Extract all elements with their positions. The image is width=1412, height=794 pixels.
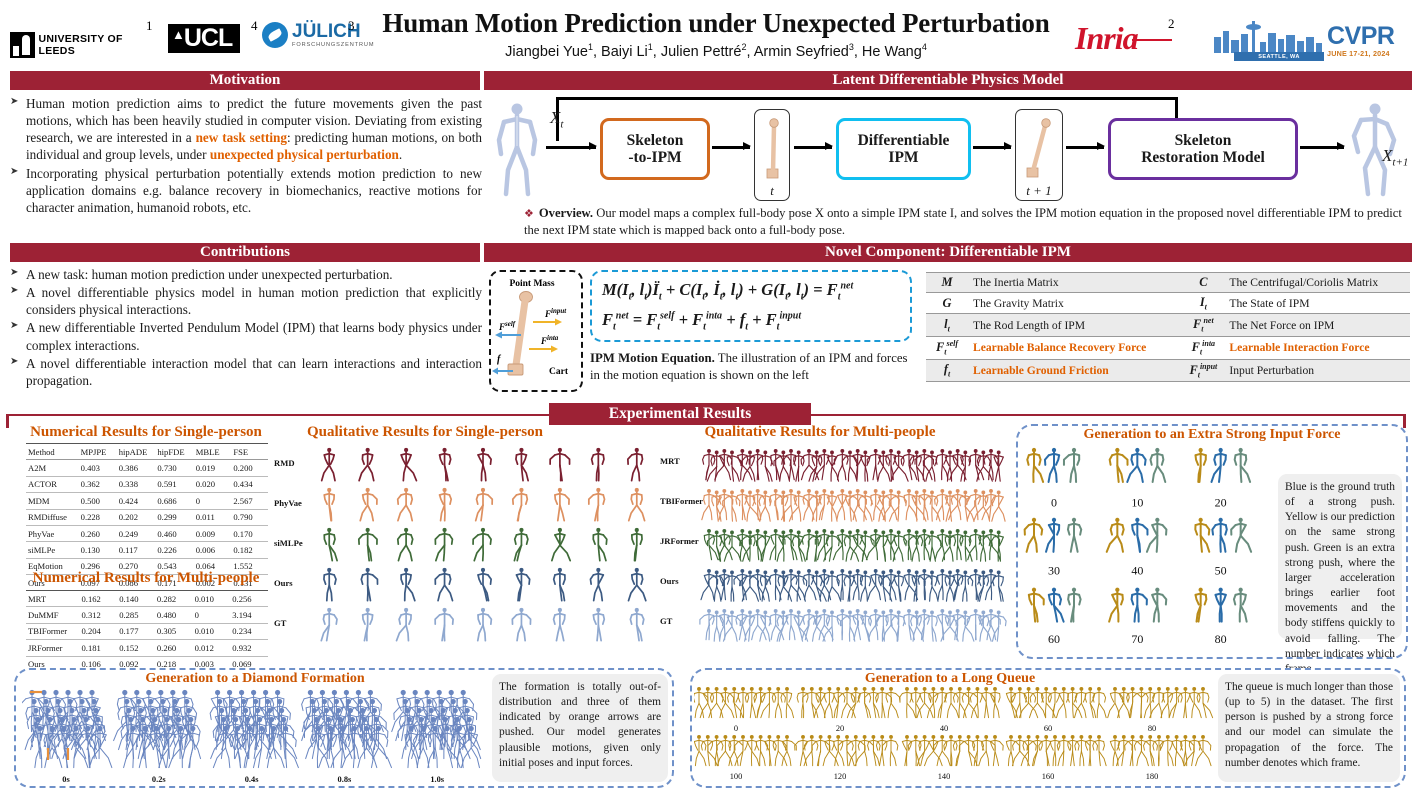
cell-hipade: 0.285 [117, 607, 155, 623]
cell-mble: 0.010 [193, 623, 231, 639]
cell-mpjpe: 0.312 [80, 607, 118, 623]
queue-note: The queue is much longer than those (up … [1218, 674, 1400, 782]
svg-text:F: F [498, 322, 505, 332]
julich-logo: JÜLICH FORSCHUNGSZENTRUM [262, 22, 374, 49]
table-row: siMLPe0.1300.1170.2260.0060.182 [26, 542, 268, 558]
ipm-pendulum-t-icon [755, 112, 789, 184]
table-row: PhyVae0.2600.2490.4600.0090.170 [26, 525, 268, 541]
cell-hipfde: 0.260 [155, 640, 193, 656]
cell-hipfde: 0.282 [155, 591, 193, 607]
column-header: MBLE [194, 444, 232, 460]
cell-method: MRT [26, 591, 80, 607]
cell-method: RMDiffuse [26, 509, 79, 525]
input-skeleton-icon [488, 100, 546, 200]
svg-text:input: input [551, 307, 567, 315]
skeleton-figures: RMDPhyVaesiMLPeOursGT [272, 446, 662, 646]
leeds-affiliation-number: 1 [146, 18, 153, 34]
contributions-body: A new task: human motion prediction unde… [10, 266, 482, 390]
row-label: GT [274, 618, 287, 628]
input-label: Xt [550, 108, 563, 130]
contributions-item: A novel differentiable physics model in … [10, 284, 482, 318]
symbol-description: Learnable Ground Friction [968, 359, 1182, 382]
column-header: hipFDE [155, 444, 193, 460]
svg-text:self: self [504, 320, 516, 328]
julich-logo-label: JÜLICH [292, 22, 374, 41]
arrow-box3-to-output [1300, 146, 1344, 149]
frame-number: 120 [834, 772, 847, 781]
row-label: TBIFormer [660, 496, 703, 506]
contributions-item: A novel differentiable interaction model… [10, 355, 482, 389]
cell-hipade: 0.249 [117, 525, 156, 541]
frame-number: 100 [730, 772, 743, 781]
inria-affiliation-number: 2 [1168, 16, 1175, 32]
row-label: JRFormer [660, 536, 699, 546]
ipm-t-label: t [755, 183, 789, 199]
time-label: 0.8s [338, 775, 352, 784]
cell-mpjpe: 0.260 [79, 525, 117, 541]
column-header: hipADE [117, 444, 156, 460]
ucl-affiliation-number: 4 [251, 18, 258, 34]
experimental-results-header: Experimental Results [549, 403, 811, 425]
symbol-description: The Gravity Matrix [968, 293, 1182, 314]
svg-text:inta: inta [547, 334, 559, 342]
cell-mble: 0.006 [194, 542, 232, 558]
time-label: 1.0s [430, 775, 444, 784]
ipm-t1-label: t + 1 [1016, 183, 1062, 199]
physics-model-overview: Overview. Our model maps a complex full-… [524, 205, 1404, 239]
symbol-description: Input Perturbation [1224, 359, 1410, 382]
table-row: M The Inertia Matrix C The Centrifugal/C… [926, 273, 1410, 293]
cell-hipade: 0.152 [117, 640, 155, 656]
box3-line2: Restoration Model [1141, 149, 1265, 166]
single-qual-heading: Qualitative Results for Single-person [278, 424, 572, 441]
table-row: RMDiffuse0.2280.2020.2990.0110.790 [26, 509, 268, 525]
cvpr-skyline-icon: SEATTLE, WA [1212, 21, 1324, 61]
frame-number: 80 [1148, 724, 1156, 733]
cell-fse: 0.170 [231, 525, 268, 541]
box2-line1: Differentiable [858, 132, 950, 149]
ipm-illustration: Point Mass F input F self F inta f Cart [489, 270, 583, 392]
cvpr-logo: SEATTLE, WA CVPR JUNE 17-21, 2024 [1212, 20, 1404, 62]
julich-affiliation-number: 3 [348, 18, 355, 34]
table-row: Ftself Learnable Balance Recovery Force … [926, 337, 1410, 360]
julich-swirl-icon [262, 22, 288, 48]
ipm-pendulum-t1-icon [1016, 112, 1062, 184]
novel-component-section-header: Novel Component: Differentiable IPM [484, 243, 1412, 262]
cell-method: PhyVae [26, 525, 79, 541]
inria-logo-label: Inria [1075, 20, 1138, 56]
frame-number: 140 [938, 772, 951, 781]
cell-method: MDM [26, 493, 79, 509]
cell-fse: 3.194 [230, 607, 268, 623]
inria-logo: Inria [1075, 20, 1172, 57]
cell-hipade: 0.117 [117, 542, 156, 558]
time-label: 0s [62, 775, 70, 784]
strong-force-note: Blue is the ground truth of a strong pus… [1278, 474, 1402, 639]
overview-bold-label: Overview. [539, 206, 593, 220]
motivation-b1-part3: . [399, 147, 402, 162]
julich-logo-sublabel: FORSCHUNGSZENTRUM [292, 43, 374, 49]
motivation-bullet-2: Incorporating physical perturbation pote… [10, 165, 482, 216]
table-row: ft Learnable Ground Friction Ftinput Inp… [926, 359, 1410, 382]
column-header: FSE [231, 444, 268, 460]
cell-mble: 0.019 [194, 460, 232, 476]
ucl-triangle-icon: ▲ [172, 28, 184, 42]
table-row: G The Gravity Matrix It The State of IPM [926, 293, 1410, 314]
diamond-skeleton-grid: 0s0.2s0.4s0.8s1.0s [22, 688, 486, 784]
ucl-logo-label: ▲UCL [168, 24, 240, 53]
output-label: Xt+1 [1382, 146, 1408, 168]
row-label: Ours [274, 578, 293, 588]
cell-fse: 0.182 [231, 542, 268, 558]
symbol-cell: lt [926, 314, 968, 337]
frame-number: 70 [1131, 632, 1143, 646]
box2-line2: IPM [888, 149, 918, 166]
frame-number: 80 [1215, 632, 1227, 646]
contributions-section-header: Contributions [10, 243, 480, 262]
symbol-cell: ft [926, 359, 968, 382]
arrow-box1-to-ipm-t [712, 146, 750, 149]
frame-number: 0 [734, 724, 738, 733]
cvpr-city-label: SEATTLE, WA [1234, 52, 1324, 61]
time-label: 0.4s [245, 775, 259, 784]
multi-qual-heading: Qualitative Results for Multi-people [640, 424, 1000, 441]
box1-line1: Skeleton [627, 132, 684, 149]
symbol-description: The State of IPM [1224, 293, 1410, 314]
cell-mpjpe: 0.162 [80, 591, 118, 607]
table-row: DuMMF0.3120.2850.48003.194 [26, 607, 268, 623]
cell-mble: 0 [194, 493, 232, 509]
table-row: JRFormer0.1810.1520.2600.0120.932 [26, 640, 268, 656]
cell-method: TBIFormer [26, 623, 80, 639]
strong-force-skeleton-grid: 01020304050607080 [1022, 446, 1272, 651]
cell-hipfde: 0.299 [155, 509, 193, 525]
contributions-item: A new task: human motion prediction unde… [10, 266, 482, 283]
poster-header: UNIVERSITY OF LEEDS 1 ▲UCL 4 JÜLICH FORS… [0, 0, 1412, 68]
symbol-cell: Ftself [926, 337, 968, 360]
frame-number: 40 [1131, 564, 1143, 578]
box3-line1: Skeleton [1175, 132, 1232, 149]
cell-method: siMLPe [26, 542, 79, 558]
cell-mpjpe: 0.362 [79, 476, 117, 492]
skeleton-to-ipm-box: Skeleton-to-IPM [600, 118, 710, 180]
ipm-state-t-card: t [754, 109, 790, 201]
skeleton-figures: 020406080100120140160180 [694, 686, 1214, 784]
cell-fse: 0.200 [231, 460, 268, 476]
cell-mpjpe: 0.403 [79, 460, 117, 476]
space-needle-icon [1252, 21, 1255, 53]
cell-method: JRFormer [26, 640, 80, 656]
column-header: MPJPE [79, 444, 117, 460]
cvpr-logo-label: CVPR [1327, 24, 1394, 49]
motivation-b1-highlight1: new task setting [196, 130, 287, 145]
symbol-description: The Rod Length of IPM [968, 314, 1182, 337]
equation-caption-bold: IPM Motion Equation. [590, 351, 715, 365]
table-row: ACTOR0.3620.3380.5910.0200.434 [26, 476, 268, 492]
row-label: MRT [660, 456, 680, 466]
cell-method: ACTOR [26, 476, 79, 492]
svg-text:F: F [540, 336, 547, 346]
table-header-row: Method MPJPE hipADE hipFDE MBLE FSE [26, 444, 268, 460]
arrow-ipm-t1-to-box3 [1066, 146, 1104, 149]
symbol-cell: G [926, 293, 968, 314]
symbol-cell: M [926, 273, 968, 293]
row-label: siMLPe [274, 538, 303, 548]
skeleton-figures: 01020304050607080 [1022, 446, 1272, 651]
symbol-cell: Ftinta [1182, 337, 1224, 360]
skeleton-restoration-box: SkeletonRestoration Model [1108, 118, 1298, 180]
symbol-description: The Net Force on IPM [1224, 314, 1410, 337]
motivation-section-header: Motivation [10, 71, 480, 90]
frame-number: 0 [1051, 495, 1057, 509]
single-person-qualitative-grid: RMDPhyVaesiMLPeOursGT [272, 446, 662, 646]
row-label: Ours [660, 576, 679, 586]
title-block: Human Motion Prediction under Unexpected… [366, 9, 1066, 60]
symbol-cell: Ftinput [1182, 359, 1224, 382]
symbol-cell: Ftnet [1182, 314, 1224, 337]
table-row: lt The Rod Length of IPM Ftnet The Net F… [926, 314, 1410, 337]
frame-number: 40 [940, 724, 948, 733]
skeleton-figures: 0s0.2s0.4s0.8s1.0s [22, 688, 486, 784]
cell-fse: 0.256 [230, 591, 268, 607]
ipm-equation-line1: M(It, lt)Ït + C(It, İt, lt) + G(It, lt)… [602, 280, 910, 302]
physics-model-section-header: Latent Differentiable Physics Model [484, 71, 1412, 90]
multi-numeric-heading: Numerical Results for Multi-people [22, 570, 270, 587]
queue-skeleton-grid: 020406080100120140160180 [694, 686, 1214, 784]
rule-right-cap [1403, 414, 1406, 428]
diamond-heading: Generation to a Diamond Formation [20, 671, 490, 687]
cell-fse: 0.234 [230, 623, 268, 639]
table-row: A2M0.4030.3860.7300.0190.200 [26, 460, 268, 476]
cell-hipade: 0.177 [117, 623, 155, 639]
symbol-description: Learnable Balance Recovery Force [968, 337, 1182, 360]
ipm-equation-line2: Ftnet = Ftself + Ftinta + ft + Ftinput [602, 310, 910, 332]
row-label: PhyVae [274, 498, 302, 508]
motivation-bullet-1: Human motion prediction aims to predict … [10, 95, 482, 164]
cell-mble: 0.010 [193, 591, 231, 607]
arrow-ipm-t-to-box2 [794, 146, 832, 149]
cell-hipade: 0.202 [117, 509, 156, 525]
cell-mpjpe: 0.204 [80, 623, 118, 639]
cvpr-date-label: JUNE 17-21, 2024 [1327, 50, 1394, 57]
cell-hipfde: 0.226 [155, 542, 193, 558]
symbol-description: The Inertia Matrix [968, 273, 1182, 293]
rule-left-cap [6, 414, 9, 428]
page-title: Human Motion Prediction under Unexpected… [366, 9, 1066, 39]
symbol-cell: It [1182, 293, 1224, 314]
cell-mpjpe: 0.228 [79, 509, 117, 525]
strong-force-heading: Generation to an Extra Strong Input Forc… [1022, 427, 1402, 443]
arrow-box2-to-ipm-t1 [973, 146, 1011, 149]
cell-mpjpe: 0.130 [79, 542, 117, 558]
cell-hipfde: 0.730 [155, 460, 193, 476]
cell-mble: 0 [193, 607, 231, 623]
cell-mble: 0.011 [194, 509, 232, 525]
frame-number: 20 [1215, 495, 1227, 509]
inria-underline-icon [1132, 39, 1172, 42]
svg-text:Point Mass: Point Mass [509, 279, 554, 289]
cell-fse: 0.932 [230, 640, 268, 656]
ucl-logo: ▲UCL [168, 24, 240, 53]
cell-hipfde: 0.686 [155, 493, 193, 509]
symbol-definition-table: M The Inertia Matrix C The Centrifugal/C… [926, 272, 1410, 382]
queue-heading: Generation to a Long Queue [700, 671, 1200, 687]
time-label: 0.2s [152, 775, 166, 784]
differentiable-ipm-box: DifferentiableIPM [836, 118, 971, 180]
row-label: RMD [274, 458, 295, 468]
cell-hipfde: 0.305 [155, 623, 193, 639]
frame-number: 60 [1048, 632, 1060, 646]
cell-hipade: 0.140 [117, 591, 155, 607]
motivation-body: Human motion prediction aims to predict … [10, 95, 482, 217]
cell-fse: 0.790 [231, 509, 268, 525]
multi-people-results-table: MRT0.1620.1400.2820.0100.256 DuMMF0.3120… [26, 590, 268, 673]
symbol-description: Learnable Interaction Force [1224, 337, 1410, 360]
cell-fse: 0.434 [231, 476, 268, 492]
ipm-equation-box: M(It, lt)Ït + C(It, İt, lt) + G(It, lt)… [590, 270, 912, 342]
cell-fse: 2.567 [231, 493, 268, 509]
column-header: Method [26, 444, 79, 460]
symbol-cell: C [1182, 273, 1224, 293]
frame-number: 180 [1146, 772, 1159, 781]
frame-number: 30 [1048, 564, 1060, 578]
cell-mble: 0.009 [194, 525, 232, 541]
frame-number: 10 [1131, 495, 1143, 509]
ipm-force-diagram-icon: Point Mass F input F self F inta f Cart [491, 272, 583, 392]
cell-hipfde: 0.591 [155, 476, 193, 492]
multi-people-qualitative-grid: MRTTBIFormerJRFormerOursGT [660, 446, 1010, 646]
frame-number: 160 [1042, 772, 1055, 781]
frame-number: 50 [1215, 564, 1227, 578]
leeds-logo: UNIVERSITY OF LEEDS [10, 22, 160, 58]
cell-method: DuMMF [26, 607, 80, 623]
leeds-logo-label: UNIVERSITY OF LEEDS [38, 33, 160, 58]
symbol-description: The Centrifugal/Coriolis Matrix [1224, 273, 1410, 293]
cell-hipade: 0.424 [117, 493, 156, 509]
poster-root: UNIVERSITY OF LEEDS 1 ▲UCL 4 JÜLICH FORS… [0, 0, 1412, 794]
cell-mpjpe: 0.500 [79, 493, 117, 509]
cell-method: A2M [26, 460, 79, 476]
skeleton-figures: MRTTBIFormerJRFormerOursGT [660, 446, 1010, 646]
svg-text:Cart: Cart [549, 367, 569, 377]
row-label: GT [660, 616, 673, 626]
author-list: Jiangbei Yue1, Baiyi Li1, Julien Pettré2… [366, 42, 1066, 60]
box1-line2: -to-IPM [628, 149, 681, 166]
leeds-shield-icon [10, 32, 35, 58]
table-row: TBIFormer0.2040.1770.3050.0100.234 [26, 623, 268, 639]
frame-number: 20 [836, 724, 844, 733]
cell-hipade: 0.386 [117, 460, 156, 476]
physics-model-diagram: Xt Skeleton-to-IPM t DifferentiableIPM [484, 92, 1412, 210]
cell-mble: 0.012 [193, 640, 231, 656]
cell-hipade: 0.338 [117, 476, 156, 492]
overview-text: Our model maps a complex full-body pose … [524, 206, 1402, 237]
single-numeric-heading: Numerical Results for Single-person [22, 424, 270, 441]
table-row: MRT0.1620.1400.2820.0100.256 [26, 591, 268, 607]
motivation-b1-highlight2: unexpected physical perturbation [210, 147, 399, 162]
cell-hipfde: 0.460 [155, 525, 193, 541]
svg-text:F: F [544, 309, 551, 319]
table-row: MDM0.5000.4240.68602.567 [26, 493, 268, 509]
cell-hipfde: 0.480 [155, 607, 193, 623]
ipm-state-t1-card: t + 1 [1015, 109, 1063, 201]
cell-mble: 0.020 [194, 476, 232, 492]
svg-text:f: f [497, 354, 502, 365]
arrow-input-to-box1 [546, 146, 596, 149]
frame-number: 60 [1044, 724, 1052, 733]
diamond-note: The formation is totally out-of-distribu… [492, 674, 668, 782]
diamond-bullet-icon [524, 206, 539, 220]
ipm-equation-caption: IPM Motion Equation. The illustration of… [590, 350, 916, 383]
contributions-item: A new differentiable Inverted Pendulum M… [10, 319, 482, 353]
cell-mpjpe: 0.181 [80, 640, 118, 656]
